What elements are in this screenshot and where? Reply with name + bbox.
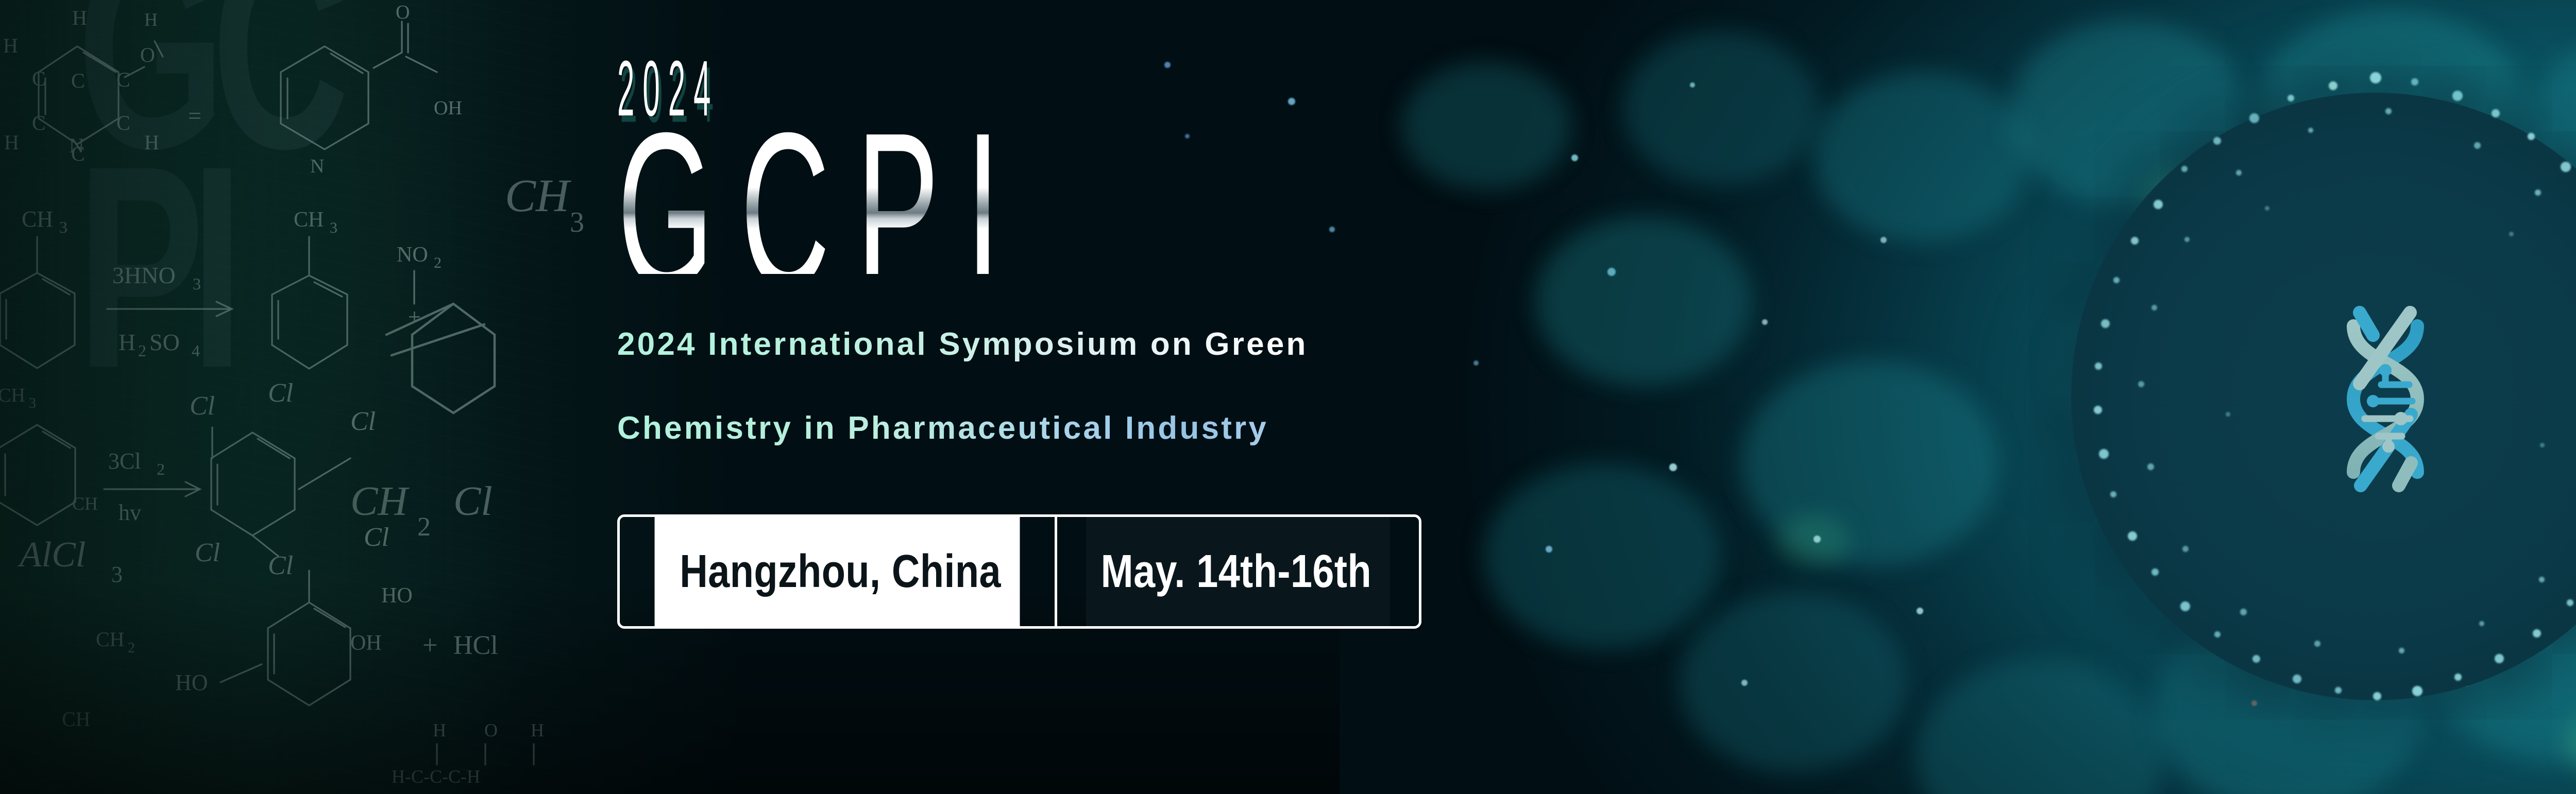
svg-text:C: C — [116, 68, 130, 91]
svg-text:2: 2 — [434, 254, 442, 271]
svg-text:N: N — [310, 156, 324, 177]
svg-text:Cl: Cl — [195, 538, 220, 567]
event-details-badge: Hangzhou, China May. 14th-16th — [617, 514, 1421, 629]
svg-text:Cl: Cl — [350, 407, 376, 436]
badge-divider — [1055, 517, 1057, 626]
svg-text:3: 3 — [29, 395, 36, 411]
svg-text:3: 3 — [193, 274, 201, 293]
badge-location: Hangzhou, China — [655, 517, 1020, 626]
svg-text:HO: HO — [381, 584, 413, 608]
svg-text:3: 3 — [111, 562, 123, 587]
svg-text:Cl: Cl — [268, 551, 293, 580]
svg-text:C: C — [32, 67, 46, 90]
badge-dates: May. 14th-16th — [1087, 517, 1390, 626]
svg-text:O: O — [396, 2, 410, 23]
svg-text:HO: HO — [175, 670, 208, 695]
subtitle-line-2: Chemistry in Pharmaceutical Industry — [617, 407, 1802, 450]
svg-text:CH: CH — [0, 385, 25, 406]
svg-text:2: 2 — [157, 460, 165, 478]
svg-text:HCl: HCl — [453, 631, 498, 660]
svg-text:2: 2 — [128, 640, 135, 656]
svg-text:3: 3 — [330, 219, 337, 236]
svg-text:H: H — [72, 6, 87, 29]
svg-text:=: = — [188, 102, 201, 129]
svg-text:hv: hv — [118, 500, 141, 525]
svg-text:CH: CH — [96, 628, 125, 651]
svg-text:CH: CH — [72, 493, 98, 514]
svg-text:Cl: Cl — [268, 378, 293, 408]
svg-text:CH: CH — [22, 206, 53, 232]
svg-text:Cl: Cl — [190, 391, 215, 421]
svg-text:H: H — [118, 329, 135, 355]
svg-text:2: 2 — [417, 512, 431, 542]
svg-text:4: 4 — [192, 341, 200, 360]
svg-text:SO: SO — [149, 329, 180, 355]
svg-text:3: 3 — [59, 218, 67, 236]
svg-text:OH: OH — [350, 631, 382, 655]
svg-text:CH: CH — [350, 479, 410, 524]
svg-text:H: H — [531, 720, 544, 740]
svg-text:O: O — [140, 43, 155, 66]
svg-text:C: C — [71, 69, 85, 92]
svg-text:C: C — [116, 111, 130, 134]
svg-text:3Cl: 3Cl — [108, 448, 141, 474]
dna-helix-icon — [2282, 286, 2488, 512]
svg-text:+: + — [422, 631, 437, 660]
svg-text:OH: OH — [434, 97, 462, 119]
conference-banner: GC PI H H H C C C C C C N H O H = — [0, 0, 2576, 794]
svg-text:3: 3 — [570, 206, 584, 238]
gcpi-acronym-logo: GCPI — [617, 125, 1454, 274]
svg-text:H-C-C-C-H: H-C-C-C-H — [392, 766, 480, 787]
svg-text:O: O — [484, 720, 498, 740]
svg-text:CH: CH — [294, 208, 324, 232]
svg-text:+: + — [408, 304, 421, 330]
svg-text:CH: CH — [505, 170, 572, 221]
svg-text:H: H — [3, 34, 18, 57]
svg-text:2: 2 — [138, 341, 146, 360]
svg-text:H: H — [4, 131, 19, 154]
banner-content: 2024 GCPI 2024 International Symposium o… — [617, 49, 2111, 629]
svg-text:CH: CH — [62, 707, 91, 731]
svg-text:NO: NO — [397, 243, 428, 267]
svg-text:Cl: Cl — [364, 523, 389, 552]
svg-text:Cl: Cl — [453, 479, 493, 524]
svg-text:N: N — [69, 134, 84, 157]
svg-text:3HNO: 3HNO — [112, 262, 176, 288]
svg-text:H: H — [433, 720, 446, 740]
svg-text:C: C — [32, 111, 46, 134]
svg-text:AlCl: AlCl — [18, 535, 86, 575]
chemistry-formula-illustration: H H H C C C C C C N H O H = N O — [0, 0, 598, 794]
svg-text:H: H — [144, 9, 158, 30]
svg-text:H: H — [144, 131, 159, 154]
